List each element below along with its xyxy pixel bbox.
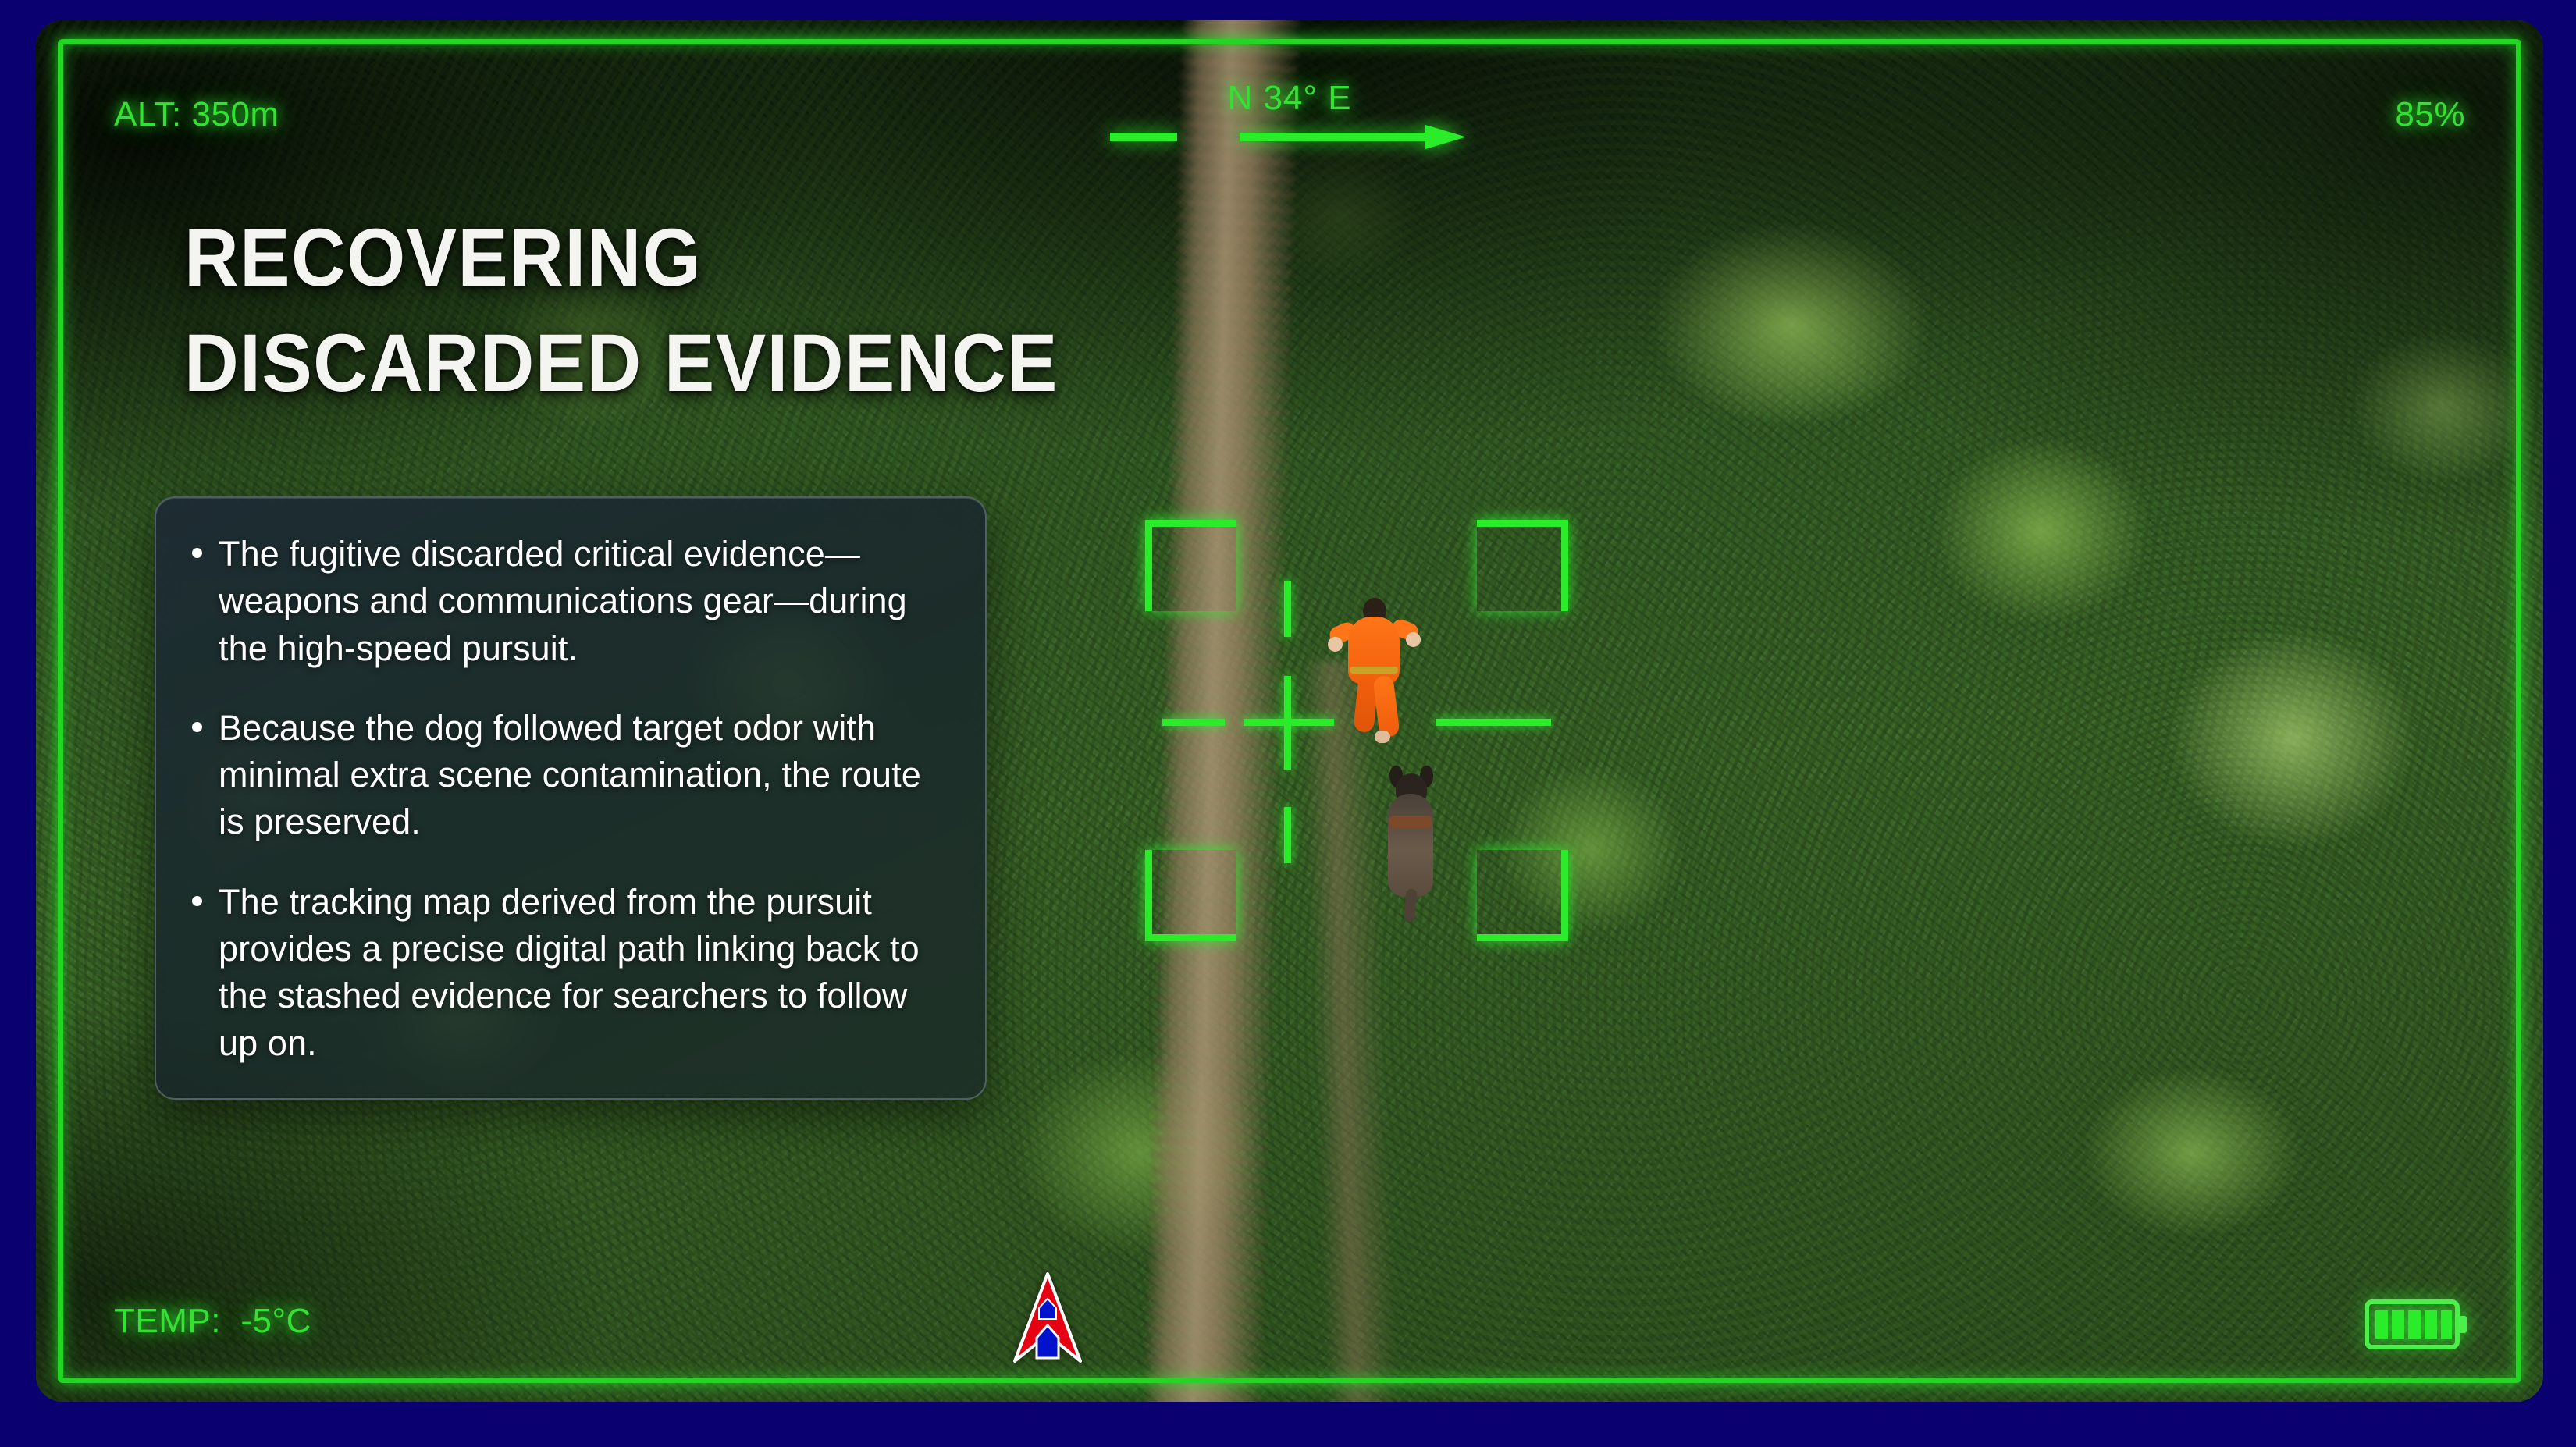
drone-photo-frame: ALT: 350m 85% TEMP: -5°C N 34° E: [36, 20, 2543, 1402]
dog-harness: [1389, 816, 1432, 828]
bullet-text: The fugitive discarded critical evidence…: [219, 534, 907, 668]
bullet-dot-icon: [192, 548, 202, 558]
bullet-dot-icon: [192, 896, 202, 906]
title-line-2: DISCARDED EVIDENCE: [184, 322, 1118, 404]
altitude-readout: ALT: 350m: [114, 95, 279, 134]
runner-torso: [1348, 617, 1400, 684]
bullet-list: The fugitive discarded critical evidence…: [183, 531, 951, 1067]
heading-label: N 34° E: [1079, 81, 1500, 116]
compass-heading-group: N 34° E: [1079, 81, 1500, 150]
runner-right-leg: [1372, 675, 1400, 738]
list-item: Because the dog followed target odor wit…: [183, 705, 951, 846]
runner-belt: [1350, 667, 1398, 674]
dog-tail: [1404, 888, 1418, 922]
content-panel: The fugitive discarded critical evidence…: [155, 496, 987, 1100]
north-arrow-icon: [1010, 1271, 1085, 1364]
list-item: The fugitive discarded critical evidence…: [183, 531, 951, 672]
arrow-right-icon: [1110, 123, 1469, 150]
battery-full-icon: [2365, 1299, 2468, 1352]
battery-percent-readout: 85%: [2395, 95, 2465, 134]
tracking-dog: [1379, 766, 1446, 922]
running-fugitive: [1328, 598, 1421, 746]
dog-body: [1388, 794, 1433, 897]
page-title: RECOVERING DISCARDED EVIDENCE: [184, 217, 1199, 428]
title-line-1: RECOVERING: [184, 217, 1118, 299]
runner-left-hand: [1328, 637, 1343, 652]
temperature-readout: TEMP: -5°C: [114, 1302, 311, 1341]
list-item: The tracking map derived from the pursui…: [183, 879, 951, 1067]
bullet-text: The tracking map derived from the pursui…: [219, 882, 920, 1063]
bullet-dot-icon: [192, 722, 202, 732]
slide-stage: ALT: 350m 85% TEMP: -5°C N 34° E: [0, 0, 2576, 1447]
bullet-text: Because the dog followed target odor wit…: [219, 708, 921, 842]
runner-right-hand: [1406, 632, 1421, 647]
runner-foot: [1375, 731, 1390, 743]
